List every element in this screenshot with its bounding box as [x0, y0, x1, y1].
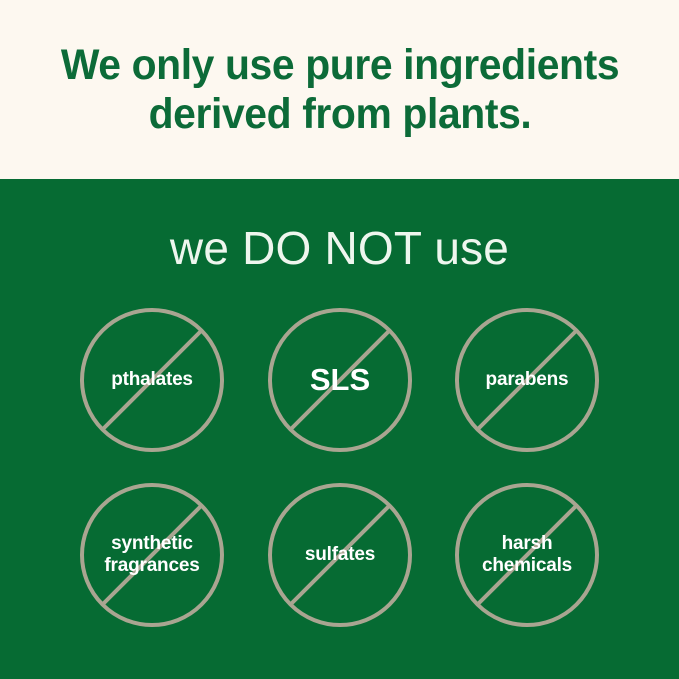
badge-label-line-1: synthetic — [111, 533, 193, 554]
badge-label: SLS — [267, 307, 413, 453]
headline-band: We only use pure ingredients derived fro… — [0, 0, 679, 179]
badge-label: harsh chemicals — [454, 482, 600, 628]
badge-label: pthalates — [79, 307, 225, 453]
badge-sulfates: sulfates — [267, 482, 413, 628]
prohibited-ingredients-grid: pthalates SLS — [0, 310, 679, 670]
marketing-poster: We only use pure ingredients derived fro… — [0, 0, 679, 679]
headline-line-1: We only use pure ingredients — [40, 41, 639, 89]
badge-label-line-1: pthalates — [111, 369, 193, 390]
section-subtitle: we DO NOT use — [0, 225, 679, 271]
badge-label-line-1: sulfates — [305, 544, 375, 565]
badge-label: sulfates — [267, 482, 413, 628]
badge-label-line-1: parabens — [486, 369, 569, 390]
badge-label: synthetic fragrances — [79, 482, 225, 628]
badge-synthetic-fragrances: synthetic fragrances — [79, 482, 225, 628]
badge-label: parabens — [454, 307, 600, 453]
page-title: We only use pure ingredients derived fro… — [40, 41, 639, 137]
headline-line-2: derived from plants. — [40, 90, 639, 138]
badge-label-line-1: harsh — [502, 533, 553, 554]
badge-parabens: parabens — [454, 307, 600, 453]
badge-sls: SLS — [267, 307, 413, 453]
badge-label-line-2: chemicals — [482, 555, 572, 576]
badge-pthalates: pthalates — [79, 307, 225, 453]
do-not-use-section: we DO NOT use pthalates — [0, 179, 679, 679]
badge-label-line-2: fragrances — [104, 555, 199, 576]
badge-harsh-chemicals: harsh chemicals — [454, 482, 600, 628]
badge-label-line-1: SLS — [310, 362, 370, 397]
